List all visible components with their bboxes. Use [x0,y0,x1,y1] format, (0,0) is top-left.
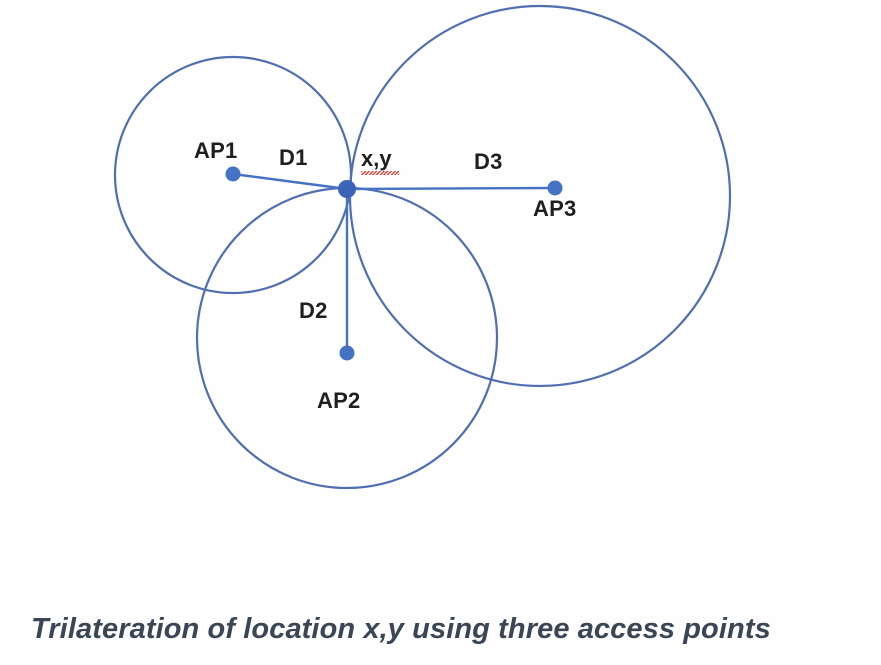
label-ap3: AP3 [533,198,576,220]
distance-line-d3 [347,188,555,189]
figure-caption: Trilateration of location x,y using thre… [31,613,861,646]
access-point-dot-ap1 [226,167,241,182]
label-ap2: AP2 [317,390,360,412]
label-distance-d3: D3 [474,151,503,173]
unknown-location-dot [338,180,356,198]
label-distance-d2: D2 [299,300,328,322]
access-point-dot-ap3 [548,181,563,196]
distance-line-d1 [233,174,347,189]
label-ap1: AP1 [194,140,237,162]
label-unknown-location-text: x,y [361,146,392,171]
label-distance-d1: D1 [279,147,308,169]
trilateration-diagram [0,0,881,665]
access-point-dot-ap2 [340,346,355,361]
label-unknown-location: x,y [361,148,392,175]
spellcheck-squiggle-icon [361,171,399,175]
trilateration-figure: AP1 D1 D3 AP3 D2 AP2 x,y Trilateration o… [0,0,881,665]
